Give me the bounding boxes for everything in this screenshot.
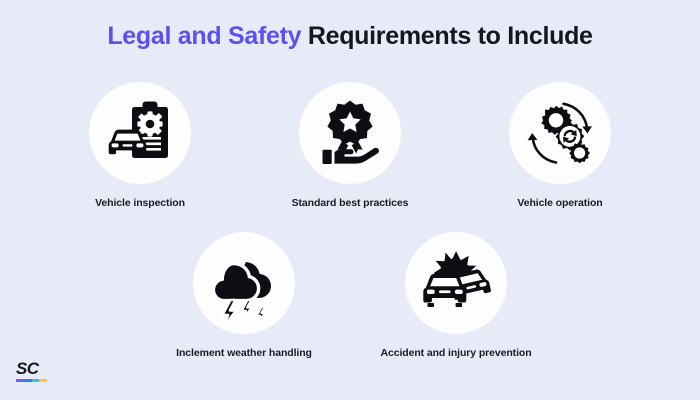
- item-vehicle-inspection[interactable]: Vehicle inspection: [89, 82, 191, 209]
- icon-circle: [509, 82, 611, 184]
- logo-stripe-segment-1: [16, 379, 24, 382]
- item-row-bottom: Inclement weather handling: [0, 232, 700, 359]
- item-inclement-weather-handling[interactable]: Inclement weather handling: [193, 232, 295, 359]
- icon-circle: [299, 82, 401, 184]
- page-title-rest: Requirements to Include: [301, 22, 592, 50]
- slide-canvas: Legal and Safety Requirements to Include: [0, 0, 700, 400]
- logo-stripe-segment-2: [24, 379, 32, 382]
- item-label: Vehicle operation: [517, 197, 602, 209]
- hand-award-badge-icon: [313, 96, 387, 170]
- item-label: Accident and injury prevention: [380, 347, 531, 359]
- clipboard-gear-car-icon: [103, 96, 177, 170]
- brand-logo[interactable]: SC: [16, 360, 60, 382]
- logo-text: SC: [16, 360, 60, 377]
- item-row-top: Vehicle inspection: [0, 82, 700, 209]
- logo-stripe-segment-3: [32, 379, 40, 382]
- storm-cloud-lightning-icon: [208, 247, 280, 319]
- gears-refresh-cycle-icon: [523, 96, 597, 170]
- logo-stripe-segment-4: [39, 379, 47, 382]
- page-title-accent: Legal and Safety: [107, 22, 301, 50]
- page-title: Legal and Safety Requirements to Include: [0, 22, 700, 51]
- icon-circle: [89, 82, 191, 184]
- icon-circle: [405, 232, 507, 334]
- item-standard-best-practices[interactable]: Standard best practices: [299, 82, 401, 209]
- item-vehicle-operation[interactable]: Vehicle operation: [509, 82, 611, 209]
- item-label: Vehicle inspection: [95, 197, 185, 209]
- item-accident-injury-prevention[interactable]: Accident and injury prevention: [405, 232, 507, 359]
- icon-circle: [193, 232, 295, 334]
- logo-stripe: [16, 379, 47, 382]
- item-label: Standard best practices: [292, 197, 409, 209]
- car-collision-impact-icon: [418, 246, 494, 320]
- item-label: Inclement weather handling: [176, 347, 312, 359]
